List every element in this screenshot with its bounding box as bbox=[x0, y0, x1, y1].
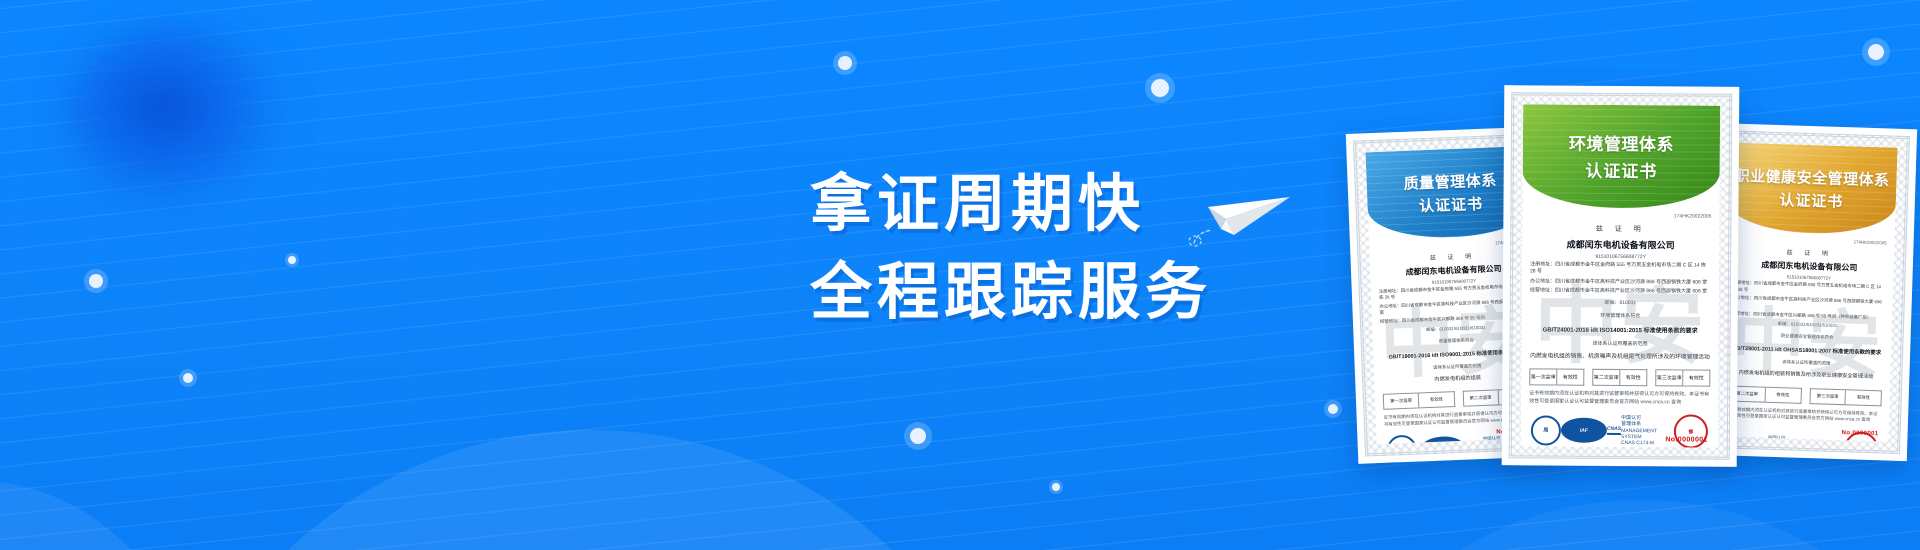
decorative-dot bbox=[89, 274, 103, 288]
certificate-watermark: 中安 bbox=[1534, 259, 1707, 381]
certificate-environment-zm: 兹 证 明 bbox=[1530, 223, 1711, 234]
audit-cell: 有效性 bbox=[1557, 369, 1584, 386]
certificate-safety-zm: 兹 证 明 bbox=[1733, 246, 1886, 260]
decorative-dot bbox=[1868, 44, 1884, 60]
certificate-environment-audit-grid: 第一次监审 有效性 第二次监审 有效性 第三次监审 有效性 bbox=[1529, 369, 1710, 387]
audit-cell: 有效性 bbox=[1683, 370, 1710, 387]
management-system-text: 中国认可 管理体系 MANAGEMENT SYSTEM CNAS C174-M bbox=[1767, 435, 1818, 442]
certificate-environment-note: 证书有效期内须在认证机构对其进行监督审核并获得认可方可保持有效。本证书有效性可登… bbox=[1529, 391, 1710, 407]
certificate-quality-subtitle: 认证证书 bbox=[1419, 193, 1484, 216]
iaf-logo: IAF bbox=[1561, 418, 1607, 443]
ms-line-1: 中国认可 bbox=[1768, 435, 1819, 442]
decorative-dot bbox=[1328, 404, 1338, 414]
audit-cell: 第二次监审 bbox=[1592, 369, 1620, 386]
decorative-dot bbox=[910, 428, 926, 444]
certificate-environment-company: 成都闰东电机设备有限公司 bbox=[1530, 237, 1711, 251]
certificate-safety-subtitle: 认证证书 bbox=[1779, 189, 1844, 212]
certificate-environment-title: 环境管理体系 bbox=[1569, 130, 1674, 156]
audit-cell: 第一次监审 bbox=[1529, 369, 1557, 386]
decorative-dot bbox=[288, 256, 296, 264]
audit-cell: 第一次监审 bbox=[1383, 393, 1420, 410]
iaf-logo: IAF bbox=[1419, 435, 1466, 444]
ms-line-2: 管理体系 bbox=[1768, 440, 1819, 442]
cnca-logo: 周 bbox=[1386, 435, 1417, 444]
decorative-dot bbox=[1151, 79, 1169, 97]
certificate-stack: 质量管理体系 认证证书 中安 174HK20022005 兹 证 明 成都闰东电… bbox=[1352, 86, 1920, 476]
audit-cell: 第二次监审 bbox=[1462, 390, 1499, 407]
certificate-watermark: 中安 bbox=[1729, 282, 1884, 394]
background-glow-blob bbox=[60, 20, 290, 215]
certificate-environment[interactable]: 环境管理体系 认证证书 中安 174HK20022005 兹 证 明 成都闰东电… bbox=[1502, 85, 1740, 467]
audit-cell: 有效性 bbox=[1765, 387, 1801, 404]
audit-cell: 第三次监审 bbox=[1809, 388, 1846, 405]
certificate-safety-audit-grid: 第二次监审 有效性 第三次监审 有效性 bbox=[1729, 386, 1882, 407]
certificate-environment-serial: 174HK20022005 bbox=[1530, 212, 1711, 219]
audit-cell: 有效性 bbox=[1419, 392, 1455, 409]
audit-cell: 有效性 bbox=[1620, 369, 1647, 386]
decorative-dot bbox=[1052, 483, 1060, 491]
cnas-logo: CNAS bbox=[1468, 443, 1481, 444]
certificate-safety-company: 成都闰东电机设备有限公司 bbox=[1733, 259, 1886, 275]
audit-cell: 有效性 bbox=[1846, 389, 1882, 406]
certificate-environment-header: 环境管理体系 认证证书 bbox=[1522, 104, 1720, 208]
certificate-safety-title: 职业健康安全管理体系 bbox=[1734, 165, 1890, 191]
audit-cell: 第三次监审 bbox=[1655, 370, 1683, 387]
certificate-safety-header: 职业健康安全管理体系 认证证书 bbox=[1726, 142, 1898, 235]
cnas-logo: CNAS bbox=[1607, 426, 1621, 435]
headline-line-2: 全程跟踪服务 bbox=[810, 248, 1330, 336]
certificate-safety-note: 证书有效期内须在认证机构对其进行监督审核并获得认可方可保持有效。本证书有效性可登… bbox=[1728, 407, 1881, 425]
certificate-safety-serial: 174HK20022005 bbox=[1734, 236, 1887, 246]
certificate-environment-subtitle: 认证证书 bbox=[1585, 157, 1657, 183]
decorative-dot bbox=[183, 373, 193, 383]
certificate-safety-number: No.0000001 bbox=[1841, 430, 1878, 437]
certificate-quality-title: 质量管理体系 bbox=[1403, 169, 1497, 194]
certification-banner: 拿证周期快 全程跟踪服务 质量管理体系 认证证书 中安 bbox=[0, 0, 1920, 550]
paper-plane-icon bbox=[1190, 185, 1295, 247]
cnca-logo: 周 bbox=[1531, 415, 1561, 445]
decorative-dot bbox=[838, 56, 852, 70]
certificate-environment-number: No.0000001 bbox=[1665, 436, 1708, 443]
